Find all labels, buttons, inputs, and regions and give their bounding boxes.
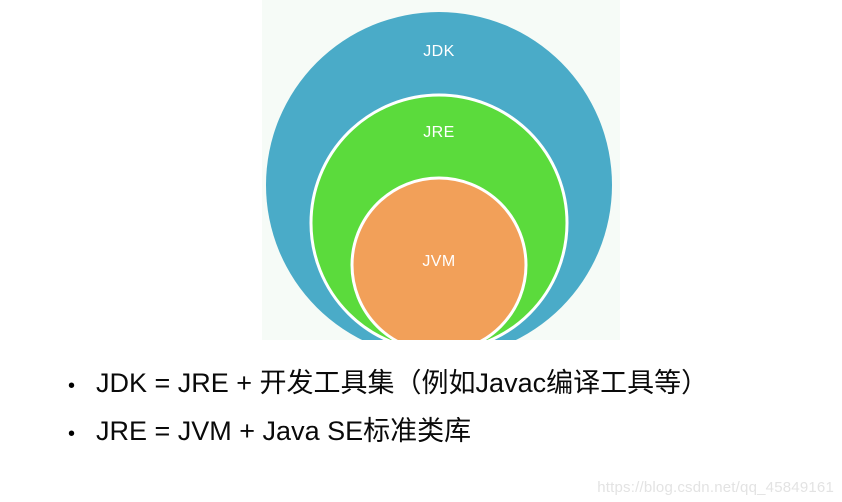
diagram-panel: JDK JRE JVM	[262, 0, 620, 340]
bullet-list: • JDK = JRE + 开发工具集（例如Javac编译工具等） • JRE …	[62, 368, 822, 464]
bullet-point-icon: •	[62, 424, 96, 444]
jdk-label: JDK	[423, 43, 454, 60]
watermark-url: https://blog.csdn.net/qq_45849161	[597, 479, 834, 496]
bullet-text-jdk: JDK = JRE + 开发工具集（例如Javac编译工具等）	[96, 368, 708, 399]
bullet-text-jre: JRE = JVM + Java SE标准类库	[96, 416, 471, 447]
list-item: • JRE = JVM + Java SE标准类库	[62, 416, 822, 464]
nested-venn-diagram: JDK JRE JVM	[262, 0, 620, 340]
bullet-point-icon: •	[62, 376, 96, 396]
jvm-label: JVM	[422, 253, 455, 270]
list-item: • JDK = JRE + 开发工具集（例如Javac编译工具等）	[62, 368, 822, 416]
jre-label: JRE	[423, 124, 454, 141]
